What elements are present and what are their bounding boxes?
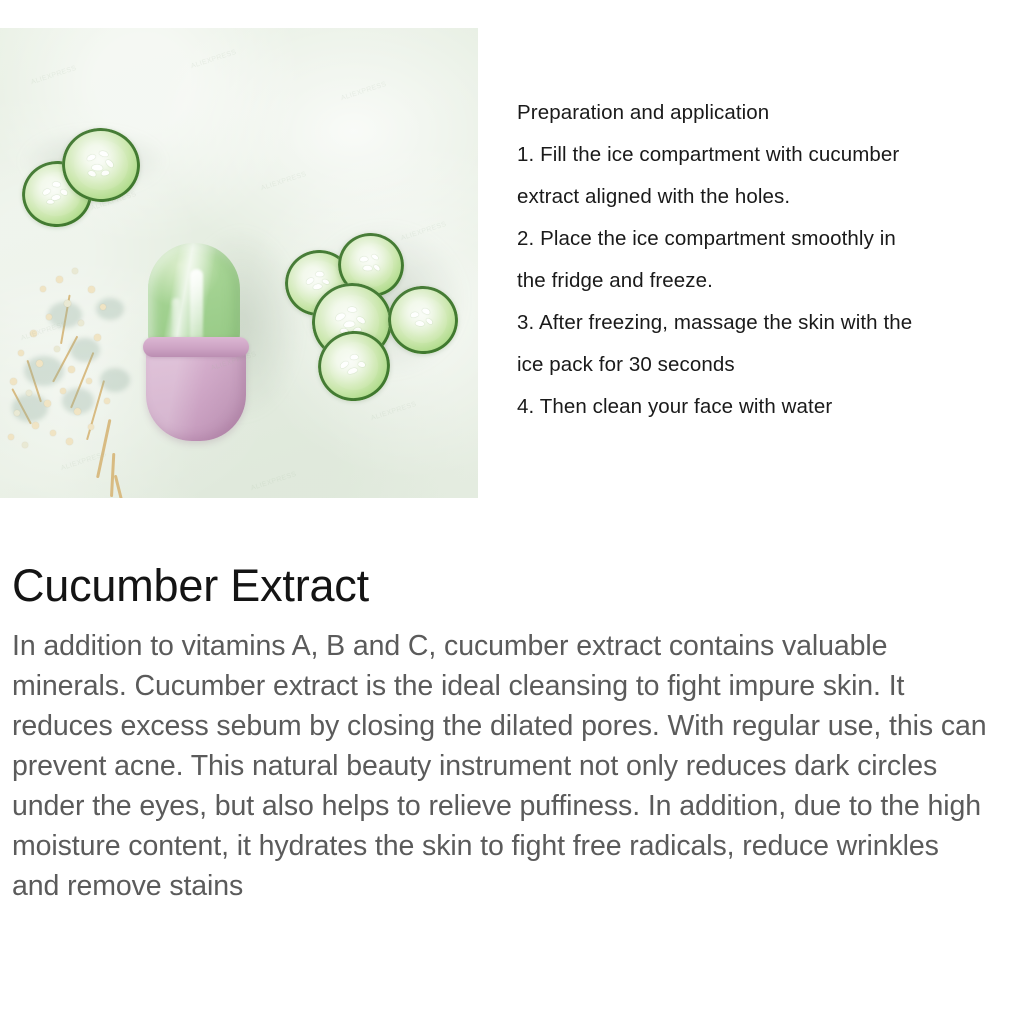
page-title: Cucumber Extract [12, 560, 1012, 612]
cucumber-seeds [334, 346, 374, 385]
description-section: Cucumber Extract In addition to vitamins… [0, 512, 1024, 1024]
product-photo: ALIEXPRESS ALIEXPRESS ALIEXPRESS ALIEXPR… [0, 28, 478, 498]
description-body-text: In addition to vitamins A, B and C, cucu… [12, 626, 987, 906]
instruction-line: Preparation and application [517, 92, 1017, 134]
product-detail-page: ALIEXPRESS ALIEXPRESS ALIEXPRESS ALIEXPR… [0, 0, 1024, 1024]
instruction-line: 4. Then clean your face with water [517, 386, 1017, 428]
instruction-line: extract aligned with the holes. [517, 176, 1017, 218]
cucumber-flesh [396, 294, 450, 346]
instruction-line: 2. Place the ice compartment smoothly in [517, 218, 1017, 260]
preparation-instructions: Preparation and application 1. Fill the … [517, 92, 1017, 428]
ice-roller-device [148, 243, 248, 443]
instruction-line: 1. Fill the ice compartment with cucumbe… [517, 134, 1017, 176]
instruction-line: ice pack for 30 seconds [517, 344, 1017, 386]
cucumber-seeds [405, 302, 441, 337]
cucumber-flesh [324, 337, 383, 395]
ice-roller-pink-base [146, 343, 246, 441]
top-section: ALIEXPRESS ALIEXPRESS ALIEXPRESS ALIEXPR… [0, 0, 1024, 512]
dome-highlight [190, 269, 203, 343]
instruction-line: the fridge and freeze. [517, 260, 1017, 302]
cucumber-seeds [353, 247, 389, 282]
instruction-line: 3. After freezing, massage the skin with… [517, 302, 1017, 344]
cucumber-flesh [72, 137, 130, 193]
cucumber-seeds [81, 146, 120, 184]
ice-roller-pink-lip [143, 337, 249, 357]
